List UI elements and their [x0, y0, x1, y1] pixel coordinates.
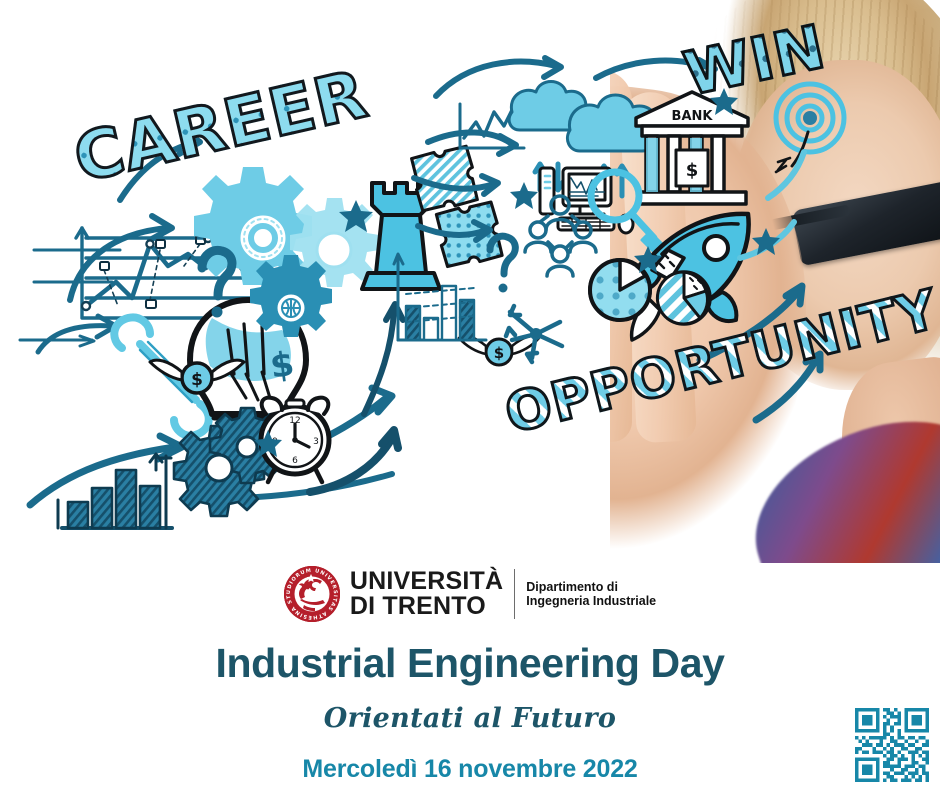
qr-code[interactable]: [855, 708, 929, 782]
university-line-1: UNIVERSITÀ: [350, 569, 503, 594]
svg-text:12: 12: [289, 416, 300, 426]
university-logo: UNIVERSITAS ATHESINA STUDIORUM UNIVERSIT…: [284, 566, 656, 622]
page-subtitle: Orientati al Futuro: [0, 703, 940, 734]
svg-text:BANK: BANK: [672, 109, 714, 124]
poster: $ $ $: [0, 0, 940, 788]
university-name: UNIVERSITÀ DI TRENTO: [350, 569, 515, 619]
department-line-1: Dipartimento di: [526, 580, 656, 595]
department-name: Dipartimento di Ingegneria Industriale: [526, 580, 656, 609]
university-crest-icon: UNIVERSITAS ATHESINA STUDIORUM: [284, 566, 340, 622]
hero-illustration: $ $ $: [0, 0, 940, 563]
logo-strip: UNIVERSITAS ATHESINA STUDIORUM UNIVERSIT…: [0, 563, 940, 625]
department-line-2: Ingegneria Industriale: [526, 594, 656, 609]
svg-text:3: 3: [313, 437, 319, 447]
svg-text:$: $: [494, 344, 504, 362]
page-title: Industrial Engineering Day: [0, 640, 940, 687]
university-line-2: DI TRENTO: [350, 594, 503, 619]
svg-text:6: 6: [292, 456, 298, 466]
event-date: Mercoledì 16 novembre 2022: [0, 755, 940, 784]
svg-text:$: $: [191, 370, 203, 390]
svg-text:$: $: [686, 160, 699, 181]
